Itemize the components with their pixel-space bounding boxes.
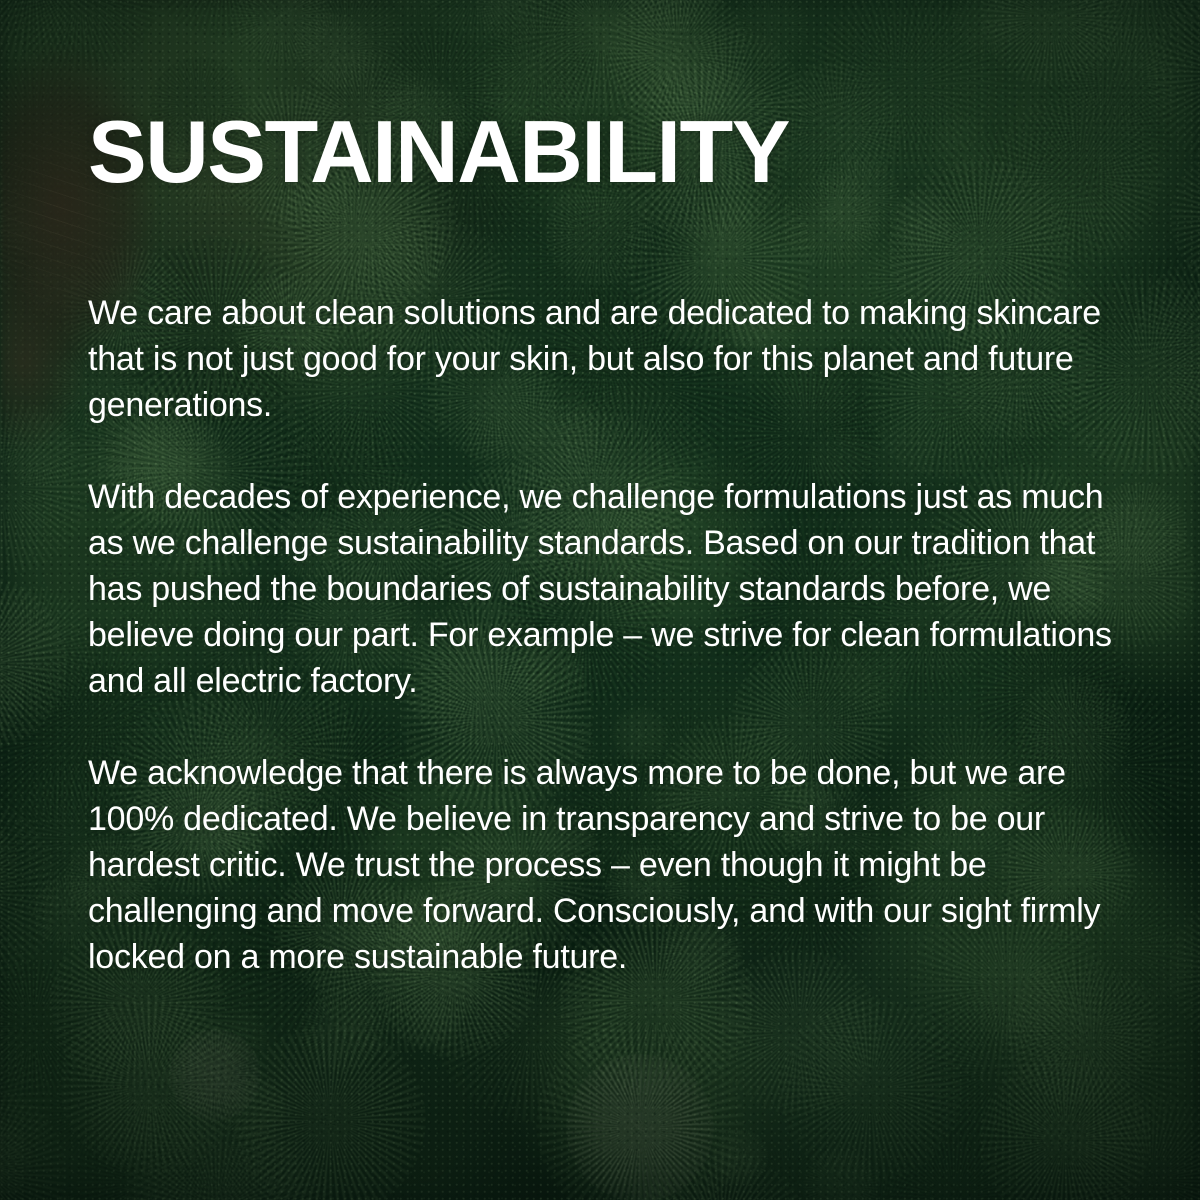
tree-crown [0, 791, 44, 936]
tree-crown [0, 967, 89, 1200]
tree-crown [1151, 119, 1200, 314]
tree-crown [0, 1078, 76, 1200]
tree-crown [0, 153, 33, 320]
page-title: SUSTAINABILITY [88, 108, 789, 196]
tree-crown [1173, 954, 1200, 1054]
tree-crown [1153, 330, 1200, 457]
tree-crown [0, 1096, 47, 1200]
paragraph-1: We care about clean solutions and are de… [88, 290, 1143, 428]
body-copy: We care about clean solutions and are de… [88, 290, 1143, 980]
paragraph-3: We acknowledge that there is always more… [88, 750, 1143, 980]
tree-crown [0, 761, 69, 841]
sustainability-poster: SUSTAINABILITY We care about clean solut… [0, 0, 1200, 1200]
tree-crown [0, 877, 47, 1090]
poster-content: SUSTAINABILITY We care about clean solut… [88, 0, 1148, 1200]
tree-crown [0, 813, 19, 925]
tree-crown [0, 792, 63, 993]
tree-crown [0, 173, 79, 265]
paragraph-2: With decades of experience, we challenge… [88, 474, 1143, 704]
tree-crown [0, 393, 93, 499]
tree-crown [16, 243, 97, 324]
tree-crown [0, 571, 38, 743]
tree-crown [0, 579, 51, 799]
tree-crown [0, 389, 99, 584]
